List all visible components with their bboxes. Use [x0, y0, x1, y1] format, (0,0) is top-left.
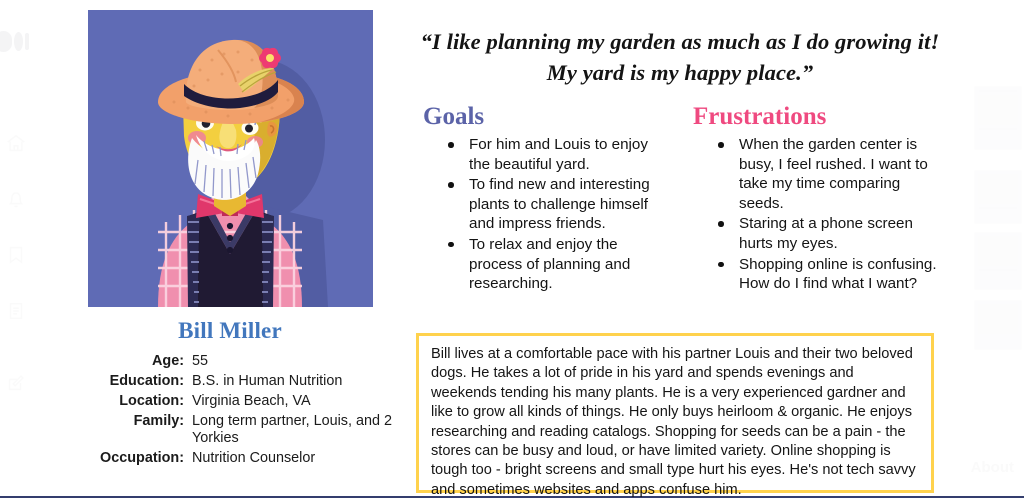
edit-icon[interactable]	[5, 372, 27, 394]
table-row: Location: Virginia Beach, VA	[60, 393, 400, 413]
persona-page: About	[0, 0, 1024, 504]
attr-value-family: Long term partner, Louis, and 2 Yorkies	[192, 413, 400, 450]
rail-card-colors[interactable]	[974, 232, 1022, 290]
list-item: To find new and interesting plants to ch…	[443, 175, 668, 234]
list-item: Staring at a phone screen hurts my eyes.	[713, 214, 943, 253]
bell-icon[interactable]	[5, 188, 27, 210]
attr-value-age: 55	[192, 353, 400, 373]
attr-label-occupation: Occupation:	[60, 450, 192, 470]
app-logo-icon	[0, 30, 30, 52]
persona-portrait	[88, 10, 373, 307]
rail-card-photo[interactable]	[974, 300, 1022, 350]
rail-card-chart[interactable]	[974, 86, 1022, 150]
bookmark-icon[interactable]	[5, 244, 27, 266]
table-row: Occupation: Nutrition Counselor	[60, 450, 400, 470]
attr-label-location: Location:	[60, 393, 192, 413]
goals-list: For him and Louis to enjoy the beautiful…	[423, 135, 668, 294]
persona-quote: “I like planning my garden as much as I …	[410, 26, 950, 88]
table-row: Family: Long term partner, Louis, and 2 …	[60, 413, 400, 450]
portrait-frame	[85, 7, 376, 312]
table-row: Education: B.S. in Human Nutrition	[60, 373, 400, 393]
page-title: Bill Miller	[60, 318, 400, 344]
frustrations-list: When the garden center is busy, I feel r…	[693, 135, 943, 294]
frustrations-section: Frustrations When the garden center is b…	[693, 103, 943, 295]
attr-label-age: Age:	[60, 353, 192, 373]
goals-section: Goals For him and Louis to enjoy the bea…	[423, 103, 668, 295]
rail-card-people[interactable]	[974, 170, 1022, 224]
attr-label-education: Education:	[60, 373, 192, 393]
home-icon[interactable]	[5, 132, 27, 154]
attr-value-location: Virginia Beach, VA	[192, 393, 400, 413]
bio-box: Bill lives at a comfortable pace with hi…	[416, 333, 934, 493]
list-item: When the garden center is busy, I feel r…	[713, 135, 943, 213]
goals-heading: Goals	[423, 103, 668, 131]
app-right-rail: About	[960, 0, 1024, 504]
persona-right-column: “I like planning my garden as much as I …	[400, 0, 960, 504]
persona-attributes: Age: 55 Education: B.S. in Human Nutriti…	[60, 353, 400, 470]
about-label[interactable]: About	[971, 459, 1014, 476]
list-item: For him and Louis to enjoy the beautiful…	[443, 135, 668, 174]
app-sidebar	[0, 0, 34, 504]
persona-left-column: Bill Miller Age: 55 Education: B.S. in H…	[60, 0, 400, 504]
table-row: Age: 55	[60, 353, 400, 373]
document-icon[interactable]	[5, 300, 27, 322]
frustrations-heading: Frustrations	[693, 103, 943, 131]
attr-value-occupation: Nutrition Counselor	[192, 450, 400, 470]
attr-label-family: Family:	[60, 413, 192, 450]
bio-text: Bill lives at a comfortable pace with hi…	[431, 345, 919, 500]
list-item: Shopping online is confusing. How do I f…	[713, 255, 943, 294]
list-item: To relax and enjoy the process of planni…	[443, 235, 668, 294]
attr-value-education: B.S. in Human Nutrition	[192, 373, 400, 393]
